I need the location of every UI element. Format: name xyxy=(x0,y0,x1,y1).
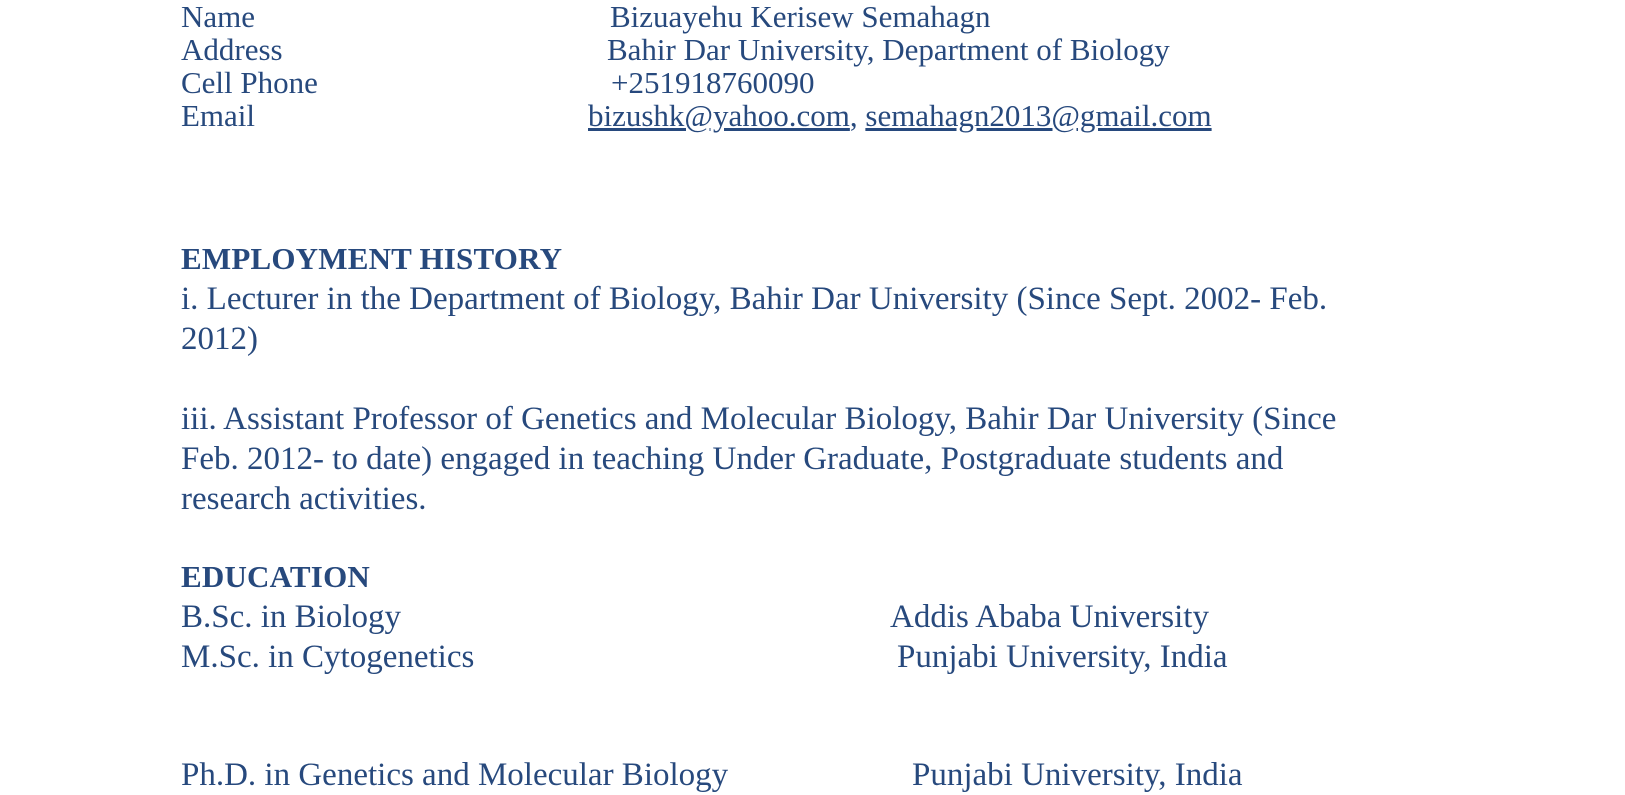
contact-value-email: bizushk@yahoo.com, semahagn2013@gmail.co… xyxy=(610,99,1212,132)
contact-row-name: Name Bizuayehu Kerisew Semahagn xyxy=(181,0,1212,33)
education-school-msc: Punjabi University, India xyxy=(897,639,1228,675)
contact-row-email: Email bizushk@yahoo.com, semahagn2013@gm… xyxy=(181,99,1212,132)
contact-label-cell-phone: Cell Phone xyxy=(181,66,610,99)
education-row-bsc: B.Sc. in Biology Addis Ababa University xyxy=(181,597,1243,637)
contact-value-name-text: Bizuayehu Kerisew Semahagn xyxy=(610,0,991,33)
contact-label-address: Address xyxy=(181,33,610,66)
education-row-phd: Ph.D. in Genetics and Molecular Biology … xyxy=(181,755,1243,795)
education-school-bsc: Addis Ababa University xyxy=(890,599,1209,635)
education-degree-msc: M.Sc. in Cytogenetics xyxy=(181,637,890,677)
education-spacer-right xyxy=(890,677,1243,755)
contact-row-address: Address Bahir Dar University, Department… xyxy=(181,33,1212,66)
education-row-msc: M.Sc. in Cytogenetics Punjabi University… xyxy=(181,637,1243,677)
education-school-phd-cell: Punjabi University, India xyxy=(890,755,1243,795)
spacer-after-contact xyxy=(181,132,1625,239)
employment-history-heading: EMPLOYMENT HISTORY xyxy=(181,239,1625,279)
contact-value-address-text: Bahir Dar University, Department of Biol… xyxy=(607,33,1170,66)
education-school-msc-cell: Punjabi University, India xyxy=(890,637,1243,677)
contact-value-address: Bahir Dar University, Department of Biol… xyxy=(610,33,1212,66)
contact-value-cell-phone-text: +251918760090 xyxy=(611,66,814,99)
email-link-gmail[interactable]: semahagn2013@gmail.com xyxy=(865,98,1211,133)
education-spacer-left xyxy=(181,677,890,755)
contact-value-cell-phone: +251918760090 xyxy=(610,66,1212,99)
education-school-phd: Punjabi University, India xyxy=(912,757,1243,793)
email-link-yahoo[interactable]: bizushk@yahoo.com xyxy=(588,98,850,133)
contact-row-cell-phone: Cell Phone +251918760090 xyxy=(181,66,1212,99)
education-degree-phd: Ph.D. in Genetics and Molecular Biology xyxy=(181,755,890,795)
employment-entry-2: iii. Assistant Professor of Genetics and… xyxy=(181,399,1396,519)
spacer-before-education xyxy=(181,519,1625,557)
contact-label-email: Email xyxy=(181,99,610,132)
education-school-bsc-cell: Addis Ababa University xyxy=(890,597,1243,637)
education-row-spacer xyxy=(181,677,1243,755)
email-separator: , xyxy=(850,98,866,133)
employment-entry-1: i. Lecturer in the Department of Biology… xyxy=(181,279,1396,359)
email-address-group: bizushk@yahoo.com, semahagn2013@gmail.co… xyxy=(588,99,1212,132)
contact-label-name: Name xyxy=(181,0,610,33)
cv-document-page: Name Bizuayehu Kerisew Semahagn Address … xyxy=(0,0,1625,787)
contact-information-table: Name Bizuayehu Kerisew Semahagn Address … xyxy=(181,0,1212,132)
education-degree-bsc: B.Sc. in Biology xyxy=(181,597,890,637)
contact-value-name: Bizuayehu Kerisew Semahagn xyxy=(610,0,1212,33)
spacer-between-employment-entries xyxy=(181,359,1625,399)
education-heading: EDUCATION xyxy=(181,557,1625,597)
education-table: B.Sc. in Biology Addis Ababa University … xyxy=(181,597,1243,795)
